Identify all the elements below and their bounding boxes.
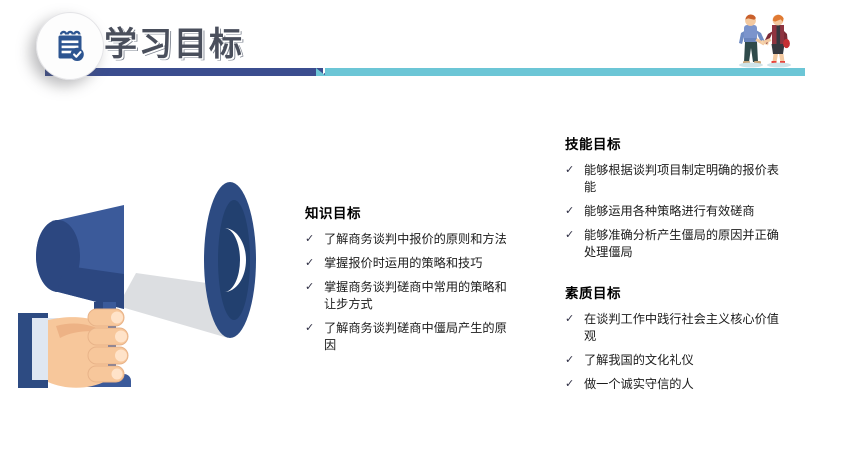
handshake-business-people-illustration xyxy=(716,8,816,72)
list-item-label: 掌握商务谈判磋商中常用的策略和让步方式 xyxy=(324,279,517,313)
block-heading: 技能目标 xyxy=(565,133,780,153)
megaphone-in-hand-illustration xyxy=(18,178,308,403)
list-item-label: 能够运用各种策略进行有效磋商 xyxy=(584,203,780,220)
bullet-list: ✓ 能够根据谈判项目制定明确的报价表能 ✓ 能够运用各种策略进行有效磋商 ✓ 能… xyxy=(565,162,780,261)
bullet-list: ✓ 在谈判工作中践行社会主义核心价值观 ✓ 了解我国的文化礼仪 ✓ 做一个诚实守… xyxy=(565,311,780,393)
list-item: ✓ 了解商务谈判中报价的原则和方法 xyxy=(305,231,517,248)
list-item-label: 做一个诚实守信的人 xyxy=(584,376,780,393)
list-item: ✓ 在谈判工作中践行社会主义核心价值观 xyxy=(565,311,780,345)
block-quality-objectives: 素质目标 ✓ 在谈判工作中践行社会主义核心价值观 ✓ 了解我国的文化礼仪 ✓ 做… xyxy=(565,282,780,400)
list-item-label: 了解商务谈判中报价的原则和方法 xyxy=(324,231,517,248)
list-item: ✓ 做一个诚实守信的人 xyxy=(565,376,780,393)
check-icon: ✓ xyxy=(565,311,584,328)
notepad-check-icon xyxy=(53,28,87,64)
check-icon: ✓ xyxy=(565,203,584,220)
slide-canvas: 学习目标 xyxy=(0,0,849,474)
block-heading: 素质目标 xyxy=(565,282,780,302)
list-item: ✓ 能够运用各种策略进行有效磋商 xyxy=(565,203,780,220)
check-icon: ✓ xyxy=(565,352,584,369)
list-item: ✓ 掌握商务谈判磋商中常用的策略和让步方式 xyxy=(305,279,517,313)
list-item: ✓ 了解我国的文化礼仪 xyxy=(565,352,780,369)
list-item-label: 能够根据谈判项目制定明确的报价表能 xyxy=(584,162,780,196)
list-item-label: 能够准确分析产生僵局的原因并正确处理僵局 xyxy=(584,227,780,261)
title-badge xyxy=(36,12,104,80)
list-item-label: 了解商务谈判磋商中僵局产生的原因 xyxy=(324,320,517,354)
list-item: ✓ 掌握报价时运用的策略和技巧 xyxy=(305,255,517,272)
check-icon: ✓ xyxy=(305,320,324,337)
page-title: 学习目标 xyxy=(104,17,244,65)
block-knowledge-objectives: 知识目标 ✓ 了解商务谈判中报价的原则和方法 ✓ 掌握报价时运用的策略和技巧 ✓… xyxy=(305,202,517,361)
list-item-label: 在谈判工作中践行社会主义核心价值观 xyxy=(584,311,780,345)
block-heading: 知识目标 xyxy=(305,202,517,222)
block-skill-objectives: 技能目标 ✓ 能够根据谈判项目制定明确的报价表能 ✓ 能够运用各种策略进行有效磋… xyxy=(565,133,780,268)
list-item-label: 掌握报价时运用的策略和技巧 xyxy=(324,255,517,272)
list-item: ✓ 能够准确分析产生僵局的原因并正确处理僵局 xyxy=(565,227,780,261)
check-icon: ✓ xyxy=(305,231,324,248)
list-item-label: 了解我国的文化礼仪 xyxy=(584,352,780,369)
check-icon: ✓ xyxy=(565,376,584,393)
check-icon: ✓ xyxy=(565,162,584,179)
list-item: ✓ 能够根据谈判项目制定明确的报价表能 xyxy=(565,162,780,196)
check-icon: ✓ xyxy=(305,255,324,272)
list-item: ✓ 了解商务谈判磋商中僵局产生的原因 xyxy=(305,320,517,354)
check-icon: ✓ xyxy=(565,227,584,244)
bullet-list: ✓ 了解商务谈判中报价的原则和方法 ✓ 掌握报价时运用的策略和技巧 ✓ 掌握商务… xyxy=(305,231,517,354)
check-icon: ✓ xyxy=(305,279,324,296)
